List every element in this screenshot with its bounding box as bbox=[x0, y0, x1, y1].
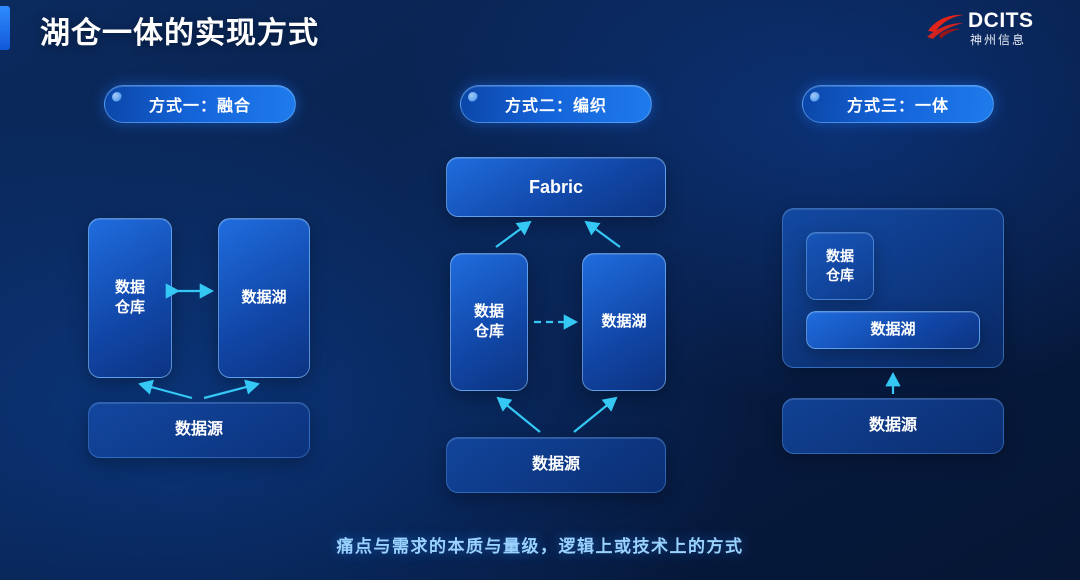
col2-fabric-box[interactable]: Fabric bbox=[446, 157, 666, 217]
col3-data-source-box[interactable]: 数据源 bbox=[782, 398, 1004, 454]
arrow-col2-src-dl bbox=[574, 398, 616, 432]
approach-pill-3[interactable]: 方式三：一体 bbox=[802, 85, 994, 123]
arrow-col2-dw-fabric bbox=[496, 222, 530, 247]
dcits-logo-icon bbox=[926, 10, 966, 44]
col2-data-source-box[interactable]: 数据源 bbox=[446, 437, 666, 493]
arrow-col2-src-dw bbox=[498, 398, 540, 432]
col1-data-source-box[interactable]: 数据源 bbox=[88, 402, 310, 458]
arrow-col1-src-dw bbox=[140, 384, 192, 398]
approach-pill-1[interactable]: 方式一：融合 bbox=[104, 85, 296, 123]
col3-data-warehouse-box[interactable]: 数据 仓库 bbox=[806, 232, 874, 300]
title-accent-bar bbox=[0, 6, 10, 50]
slide-canvas: 湖仓一体的实现方式 DCITS 神州信息 方式一：融合 方式二：编织 方式三：一… bbox=[0, 0, 1080, 580]
approach-pill-2[interactable]: 方式二：编织 bbox=[460, 85, 652, 123]
arrow-col2-dl-fabric bbox=[586, 222, 620, 247]
col1-data-warehouse-box[interactable]: 数据 仓库 bbox=[88, 218, 172, 378]
col2-data-lake-box[interactable]: 数据湖 bbox=[582, 253, 666, 391]
col2-data-warehouse-box[interactable]: 数据 仓库 bbox=[450, 253, 528, 391]
logo-wordmark: DCITS bbox=[968, 9, 1034, 33]
brand-logo: DCITS 神州信息 bbox=[926, 8, 1058, 50]
page-title: 湖仓一体的实现方式 bbox=[40, 8, 319, 52]
col3-data-lake-box[interactable]: 数据湖 bbox=[806, 311, 980, 349]
footer-caption: 痛点与需求的本质与量级，逻辑上或技术上的方式 bbox=[0, 532, 1080, 557]
logo-subtitle: 神州信息 bbox=[970, 31, 1026, 48]
col1-data-lake-box[interactable]: 数据湖 bbox=[218, 218, 310, 378]
arrow-col1-src-dl bbox=[204, 384, 258, 398]
